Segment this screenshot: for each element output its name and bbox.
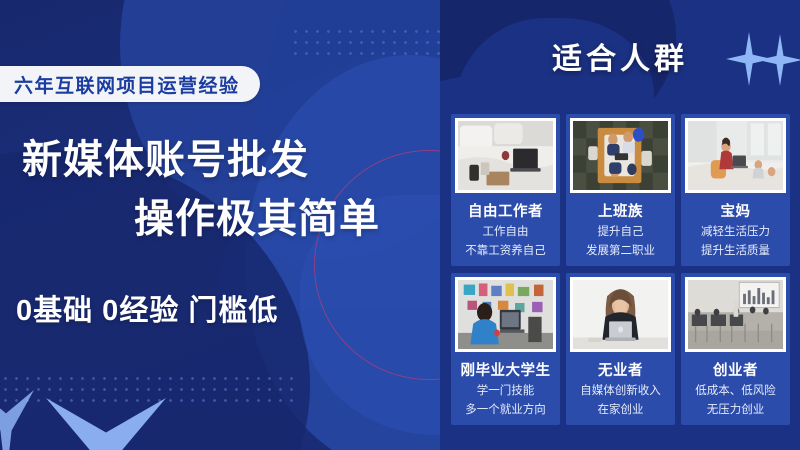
audience-card-thumbnail bbox=[685, 118, 786, 193]
audience-card[interactable]: 宝妈减轻生活压力提升生活质量 bbox=[681, 114, 790, 266]
audience-card[interactable]: 刚毕业大学生学一门技能多一个就业方向 bbox=[451, 273, 560, 425]
decorative-dot-grid-bottom bbox=[0, 373, 300, 407]
audience-card-desc-line1: 工作自由 bbox=[483, 225, 529, 240]
audience-card-thumbnail bbox=[685, 277, 786, 352]
headline-secondary: 操作极其简单 bbox=[134, 186, 380, 244]
left-promo-panel: 六年互联网项目运营经验 新媒体账号批发 操作极其简单 0基础 0经验 门槛低 bbox=[0, 0, 440, 450]
audience-card-desc-line2: 提升生活质量 bbox=[701, 244, 770, 259]
audience-card-thumbnail bbox=[570, 118, 671, 193]
audience-card-title: 刚毕业大学生 bbox=[461, 359, 551, 380]
audience-card[interactable]: 创业者低成本、低风险无压力创业 bbox=[681, 273, 790, 425]
audience-card[interactable]: 上班族提升自己发展第二职业 bbox=[566, 114, 675, 266]
experience-badge-label: 六年互联网项目运营经验 bbox=[14, 71, 240, 98]
stressed-woman-laptop-photo bbox=[573, 280, 668, 349]
audience-card-desc-line1: 低成本、低风险 bbox=[695, 384, 776, 399]
audience-panel: 适合人群 自由工作者工作自由不靠工资养自己 bbox=[440, 0, 800, 450]
classroom-presentation-photo bbox=[688, 280, 783, 349]
audience-card-desc-line1: 减轻生活压力 bbox=[701, 225, 770, 240]
mother-with-laptop-on-bed-photo bbox=[688, 121, 783, 190]
audience-card-grid: 自由工作者工作自由不靠工资养自己 上班族提升自己发展第二职业 bbox=[451, 114, 790, 425]
office-meeting-top-view-photo bbox=[573, 121, 668, 190]
audience-card-desc-line2: 在家创业 bbox=[598, 403, 644, 418]
experience-badge: 六年互联网项目运营经验 bbox=[0, 66, 260, 102]
audience-card-title: 创业者 bbox=[713, 359, 758, 380]
audience-card-title: 无业者 bbox=[598, 359, 643, 380]
audience-card-title: 宝妈 bbox=[721, 200, 751, 221]
audience-card-desc-line1: 提升自己 bbox=[598, 225, 644, 240]
student-at-desk-photo bbox=[458, 280, 553, 349]
audience-card-desc-line2: 发展第二职业 bbox=[586, 244, 655, 259]
audience-card-title: 上班族 bbox=[598, 200, 643, 221]
laptop-on-bed-photo bbox=[458, 121, 553, 190]
promo-poster: 六年互联网项目运营经验 新媒体账号批发 操作极其简单 0基础 0经验 门槛低 适… bbox=[0, 0, 800, 450]
audience-card-thumbnail bbox=[455, 277, 556, 352]
audience-card-desc-line2: 不靠工资养自己 bbox=[465, 244, 546, 259]
audience-card-title: 自由工作者 bbox=[468, 200, 543, 221]
sparkle-icon-bottom-left bbox=[46, 398, 166, 450]
tagline: 0基础 0经验 门槛低 bbox=[16, 287, 278, 329]
audience-card-desc-line2: 多一个就业方向 bbox=[465, 403, 546, 418]
audience-card-thumbnail bbox=[570, 277, 671, 352]
audience-card-desc-line2: 无压力创业 bbox=[707, 403, 765, 418]
audience-card-desc-line1: 学一门技能 bbox=[477, 384, 535, 399]
audience-panel-title: 适合人群 bbox=[440, 34, 800, 78]
audience-card[interactable]: 自由工作者工作自由不靠工资养自己 bbox=[451, 114, 560, 266]
headline-primary: 新媒体账号批发 bbox=[22, 127, 309, 185]
sparkle-icon-bottom-edge bbox=[0, 390, 34, 450]
audience-card[interactable]: 无业者自媒体创新收入在家创业 bbox=[566, 273, 675, 425]
audience-card-thumbnail bbox=[455, 118, 556, 193]
audience-card-desc-line1: 自媒体创新收入 bbox=[580, 384, 661, 399]
